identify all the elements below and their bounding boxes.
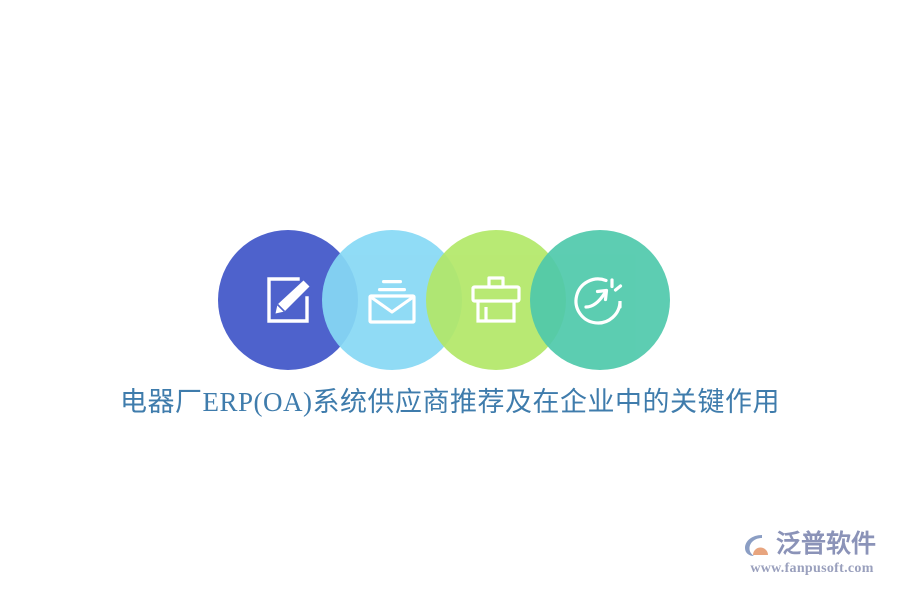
page-title: 电器厂ERP(OA)系统供应商推荐及在企业中的关键作用 xyxy=(0,384,900,420)
icon-circle-growth xyxy=(530,230,670,370)
banner-stage: 电器厂ERP(OA)系统供应商推荐及在企业中的关键作用 泛普软件 www.fan… xyxy=(0,0,900,600)
growth-arrow-circle-icon xyxy=(569,269,631,331)
fanpu-arc-logo-icon xyxy=(742,530,772,560)
icon-circle-group xyxy=(218,230,670,370)
store-shop-icon xyxy=(465,269,527,331)
watermark-url: www.fanpusoft.com xyxy=(742,561,882,577)
watermark-brand-name: 泛普软件 xyxy=(776,530,876,560)
watermark: 泛普软件 www.fanpusoft.com xyxy=(742,528,882,586)
envelope-mail-icon xyxy=(361,269,423,331)
edit-pencil-square-icon xyxy=(257,269,319,331)
watermark-brand-row: 泛普软件 xyxy=(742,528,882,562)
